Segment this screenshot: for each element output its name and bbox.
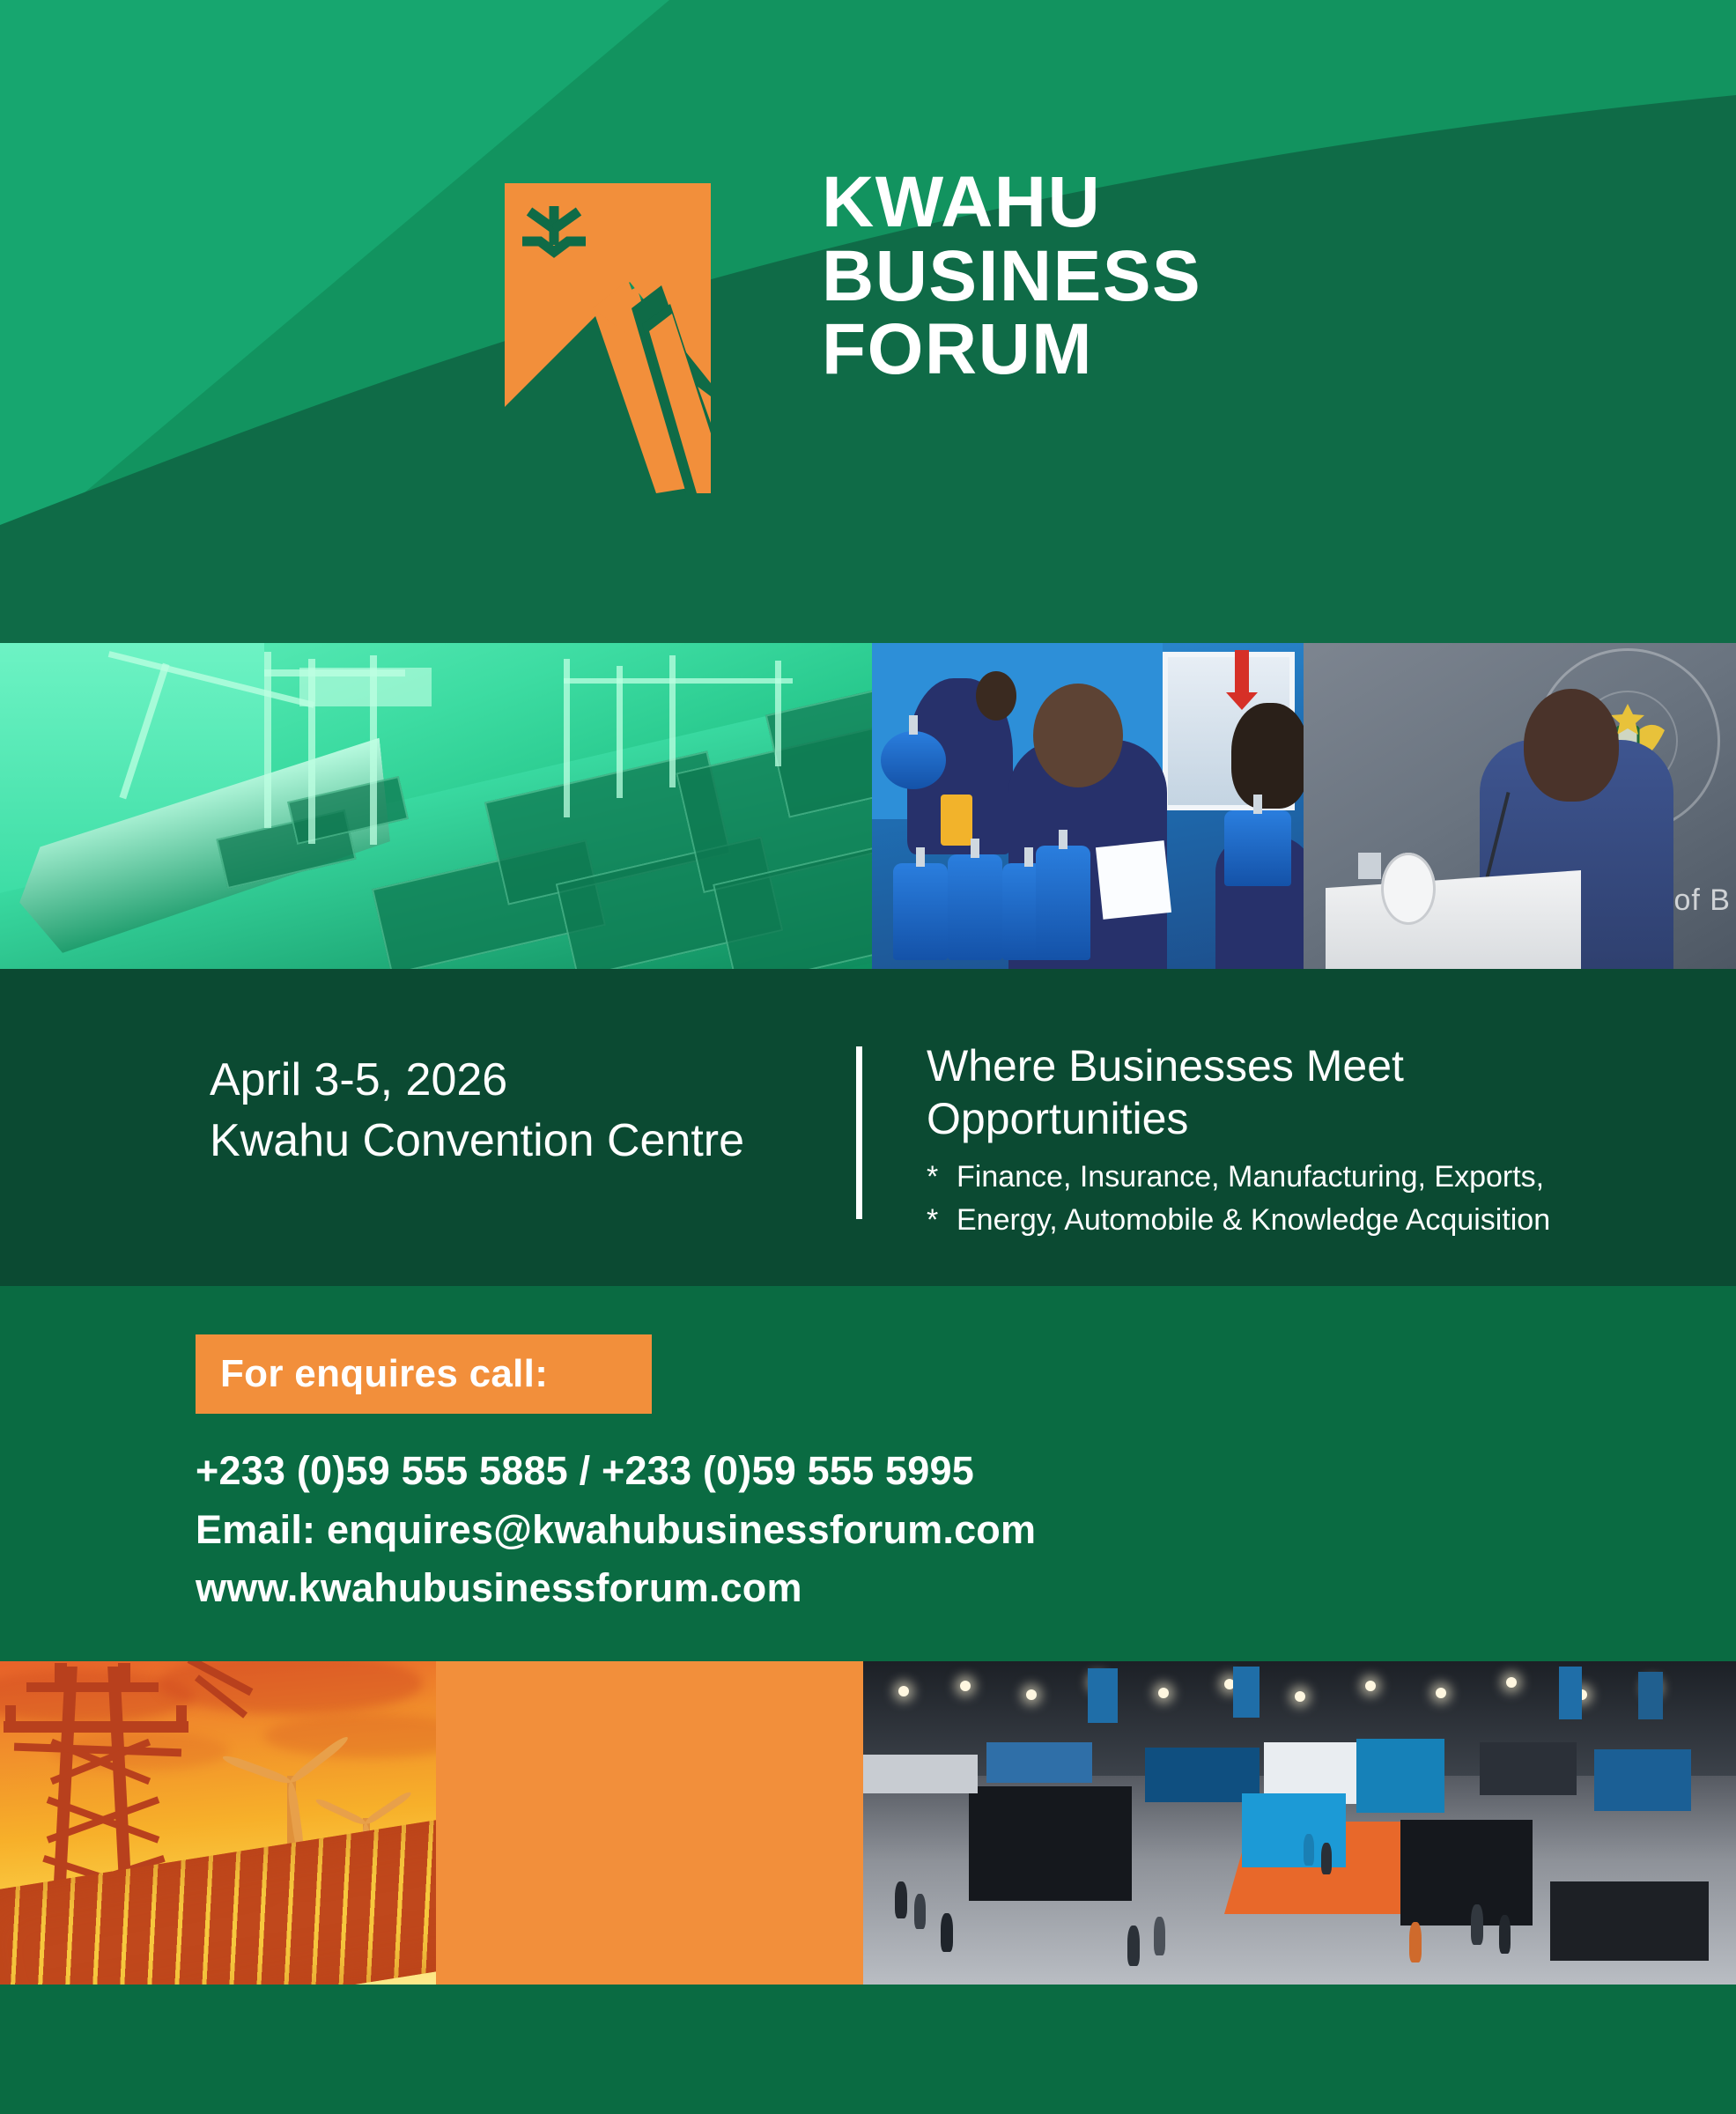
list-item: *Energy, Automobile & Knowledge Acquisit…	[927, 1199, 1550, 1242]
wordmark-line-1: KWAHU	[822, 166, 1201, 240]
contact-details: +233 (0)59 555 5885 / +233 (0)59 555 599…	[196, 1442, 1036, 1618]
tagline-heading: Where Businesses Meet Opportunities	[927, 1039, 1550, 1145]
tagline-line-1: Where Businesses Meet	[927, 1039, 1550, 1092]
poster-header: KWAHU BUSINESS FORUM	[0, 0, 1736, 643]
bullet-star-icon: *	[927, 1156, 957, 1199]
sector-line-1: Finance, Insurance, Manufacturing, Expor…	[957, 1160, 1544, 1194]
tagline-block: Where Businesses Meet Opportunities *Fin…	[927, 1039, 1550, 1242]
manufacturing-workers-photo	[872, 643, 1304, 969]
vertical-divider	[856, 1046, 862, 1219]
wordmark-line-2: BUSINESS	[822, 240, 1201, 314]
brand-logo: KWAHU BUSINESS FORUM	[498, 176, 1643, 493]
event-dates: April 3-5, 2026	[210, 1050, 744, 1111]
contact-email[interactable]: Email: enquires@kwahubusinessforum.com	[196, 1501, 1036, 1560]
orange-spacer-panel	[436, 1661, 863, 1985]
event-venue: Kwahu Convention Centre	[210, 1111, 744, 1172]
renewable-energy-photo	[0, 1661, 436, 1985]
hero-photo-strip: ure of B	[0, 643, 1736, 969]
event-date-venue: April 3-5, 2026 Kwahu Convention Centre	[210, 1050, 744, 1171]
tagline-line-2: Opportunities	[927, 1092, 1550, 1145]
wordmark-line-3: FORUM	[822, 313, 1201, 387]
enquiries-badge: For enquires call:	[196, 1334, 652, 1414]
bullet-star-icon: *	[927, 1199, 957, 1242]
port-container-terminal-photo	[0, 643, 872, 969]
tagline-sector-list: *Finance, Insurance, Manufacturing, Expo…	[927, 1156, 1550, 1242]
list-item: *Finance, Insurance, Manufacturing, Expo…	[927, 1156, 1550, 1199]
bottom-photo-strip	[0, 1661, 1736, 1985]
contact-website[interactable]: www.kwahubusinessforum.com	[196, 1559, 1036, 1618]
poster-footer	[0, 1985, 1736, 2114]
trade-expo-hall-photo	[863, 1661, 1736, 1985]
contact-phones[interactable]: +233 (0)59 555 5885 / +233 (0)59 555 599…	[196, 1442, 1036, 1501]
president-speech-photo: ure of B	[1304, 643, 1736, 969]
brand-wordmark: KWAHU BUSINESS FORUM	[822, 166, 1201, 387]
sector-line-2: Energy, Automobile & Knowledge Acquisiti…	[957, 1203, 1550, 1237]
kwahu-flag-mountain-logo-icon	[498, 176, 718, 493]
